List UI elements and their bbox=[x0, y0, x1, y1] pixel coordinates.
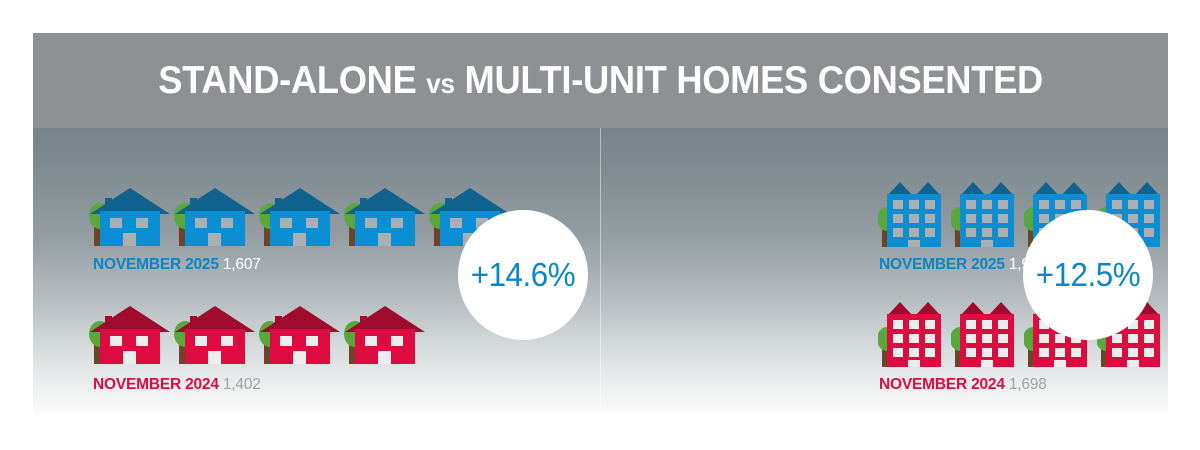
caption-multiunit-2024: NOVEMBER 2024 1,698 bbox=[879, 376, 1047, 394]
period-value: 1,607 bbox=[223, 256, 261, 273]
title-part-1: STAND-ALONE bbox=[158, 59, 416, 102]
title-part-2: MULTI-UNIT HOMES CONSENTED bbox=[464, 59, 1042, 102]
body-area: NOVEMBER 2025 1,607 bbox=[33, 128, 1168, 413]
caption-standalone-2025: NOVEMBER 2025 1,607 bbox=[93, 256, 261, 274]
period-label: NOVEMBER 2025 bbox=[879, 256, 1005, 273]
apartment-icon bbox=[951, 168, 1024, 253]
percent-change-value: +12.5% bbox=[1036, 256, 1140, 294]
caption-multiunit-2025: NOVEMBER 2025 1,910 bbox=[879, 256, 1047, 274]
period-label: NOVEMBER 2024 bbox=[879, 376, 1005, 393]
house-icon bbox=[343, 298, 428, 370]
period-label: NOVEMBER 2025 bbox=[93, 256, 219, 273]
caption-standalone-2024: NOVEMBER 2024 1,402 bbox=[93, 376, 261, 394]
apartment-icon bbox=[951, 288, 1024, 373]
icon-row-standalone-2024 bbox=[88, 298, 428, 370]
percent-change-value: +14.6% bbox=[471, 256, 575, 294]
house-icon bbox=[258, 180, 343, 252]
period-value: 1,698 bbox=[1009, 376, 1047, 393]
period-label: NOVEMBER 2024 bbox=[93, 376, 219, 393]
apartment-icon bbox=[878, 168, 951, 253]
house-icon bbox=[173, 180, 258, 252]
apartment-icon bbox=[878, 288, 951, 373]
period-value: 1,402 bbox=[223, 376, 261, 393]
status-badge-multiunit: +12.5% bbox=[1023, 210, 1153, 340]
icon-row-standalone-2025 bbox=[88, 180, 513, 252]
status-badge-standalone: +14.6% bbox=[458, 210, 588, 340]
panel-multi-unit: NOVEMBER 2025 1,910 bbox=[601, 128, 1168, 413]
infographic-panel: STAND-ALONE vs MULTI-UNIT HOMES CONSENTE… bbox=[33, 33, 1168, 413]
title-vs: vs bbox=[426, 68, 454, 99]
panel-stand-alone: NOVEMBER 2025 1,607 bbox=[33, 128, 600, 413]
house-icon bbox=[88, 180, 173, 252]
header-bar: STAND-ALONE vs MULTI-UNIT HOMES CONSENTE… bbox=[33, 33, 1168, 128]
house-icon bbox=[258, 298, 343, 370]
page-title: STAND-ALONE vs MULTI-UNIT HOMES CONSENTE… bbox=[158, 59, 1043, 103]
house-icon bbox=[343, 180, 428, 252]
house-icon bbox=[88, 298, 173, 370]
house-icon bbox=[173, 298, 258, 370]
